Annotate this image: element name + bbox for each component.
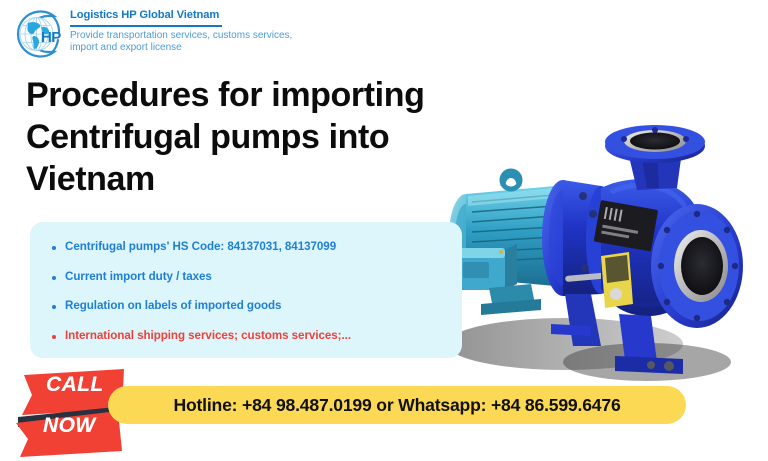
page-title: Procedures for importing Centrifugal pum…: [26, 74, 496, 200]
bullet-dot-icon: [52, 305, 56, 309]
list-item-label: Centrifugal pumps' HS Code: 84137031, 84…: [65, 239, 336, 254]
bullet-dot-icon: [52, 246, 56, 250]
list-item-highlighted: International shipping services; customs…: [52, 328, 462, 343]
list-item: Centrifugal pumps' HS Code: 84137031, 84…: [52, 239, 462, 254]
brand-tagline: Provide transportation services, customs…: [70, 30, 294, 55]
bullet-dot-icon: [52, 276, 56, 280]
key-points-panel: Centrifugal pumps' HS Code: 84137031, 84…: [30, 222, 462, 358]
key-points-list: Centrifugal pumps' HS Code: 84137031, 84…: [30, 222, 462, 343]
list-item-label: International shipping services; customs…: [65, 328, 351, 343]
call-now-line-2: NOW: [43, 414, 96, 438]
hotline-text: Hotline: +84 98.487.0199 or Whatsapp: +8…: [173, 395, 620, 416]
promotional-banner: HP Logistics HP Global Vietnam Provide t…: [0, 0, 768, 461]
list-item: Current import duty / taxes: [52, 269, 462, 284]
list-item-label: Regulation on labels of imported goods: [65, 298, 281, 313]
brand-name: Logistics HP Global Vietnam: [70, 9, 294, 22]
list-item-label: Current import duty / taxes: [65, 269, 212, 284]
bullet-dot-icon: [52, 335, 56, 339]
svg-text:HP: HP: [41, 29, 61, 46]
brand-header: HP Logistics HP Global Vietnam Provide t…: [8, 6, 338, 68]
call-now-line-1: CALL: [46, 373, 104, 397]
brand-divider: [70, 25, 222, 27]
brand-text-block: Logistics HP Global Vietnam Provide tran…: [70, 6, 294, 55]
globe-hp-logo-icon: HP: [8, 6, 66, 64]
list-item: Regulation on labels of imported goods: [52, 298, 462, 313]
hotline-bar[interactable]: Hotline: +84 98.487.0199 or Whatsapp: +8…: [108, 386, 686, 424]
